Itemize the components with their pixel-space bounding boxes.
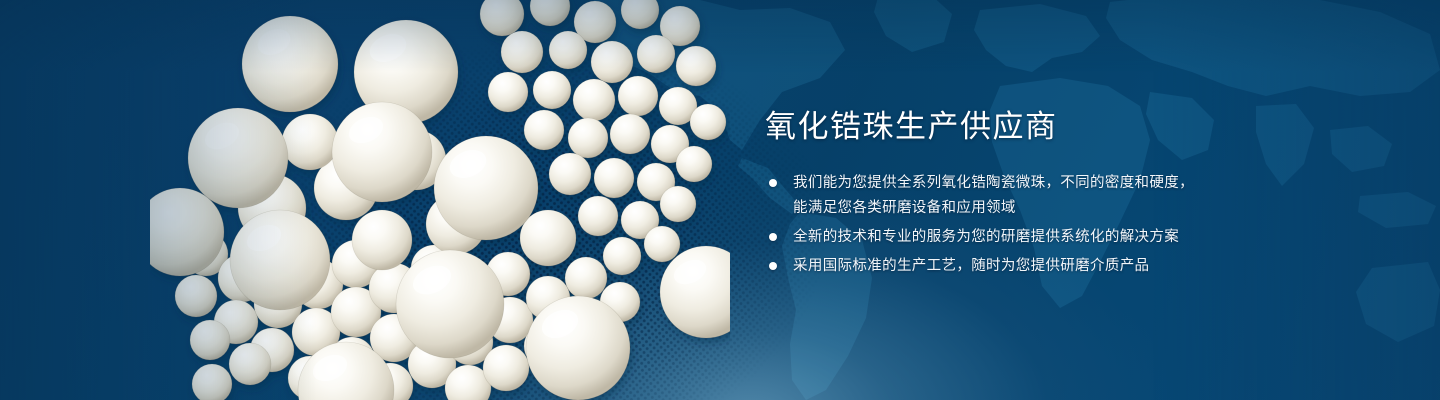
list-item-label: 全新的技术和专业的服务为您的研磨提供系统化的解决方案 (793, 225, 1385, 250)
list-item: 全新的技术和专业的服务为您的研磨提供系统化的解决方案 (765, 225, 1385, 250)
zirconia-beads-image: circle { fill: url(#bead); stroke: rgba(… (150, 0, 730, 400)
page-title: 氧化锆珠生产供应商 (765, 108, 1385, 147)
list-item: 采用国际标准的生产工艺，随时为您提供研磨介质产品 (765, 254, 1385, 279)
list-item-label: 我们能为您提供全系列氧化锆陶瓷微珠，不同的密度和硬度， (793, 171, 1385, 196)
bullet-dot-icon (769, 179, 777, 187)
feature-list: 我们能为您提供全系列氧化锆陶瓷微珠，不同的密度和硬度， 能满足您各类研磨设备和应… (765, 171, 1385, 279)
list-item: 我们能为您提供全系列氧化锆陶瓷微珠，不同的密度和硬度， 能满足您各类研磨设备和应… (765, 171, 1385, 221)
bullet-dot-icon (769, 233, 777, 241)
promo-banner: circle { fill: url(#bead); stroke: rgba(… (0, 0, 1440, 400)
bullet-dot-icon (769, 262, 777, 270)
list-item-label: 采用国际标准的生产工艺，随时为您提供研磨介质产品 (793, 254, 1385, 279)
list-item-label-continued: 能满足您各类研磨设备和应用领域 (793, 196, 1385, 221)
banner-content: 氧化锆珠生产供应商 我们能为您提供全系列氧化锆陶瓷微珠，不同的密度和硬度， 能满… (765, 108, 1385, 279)
